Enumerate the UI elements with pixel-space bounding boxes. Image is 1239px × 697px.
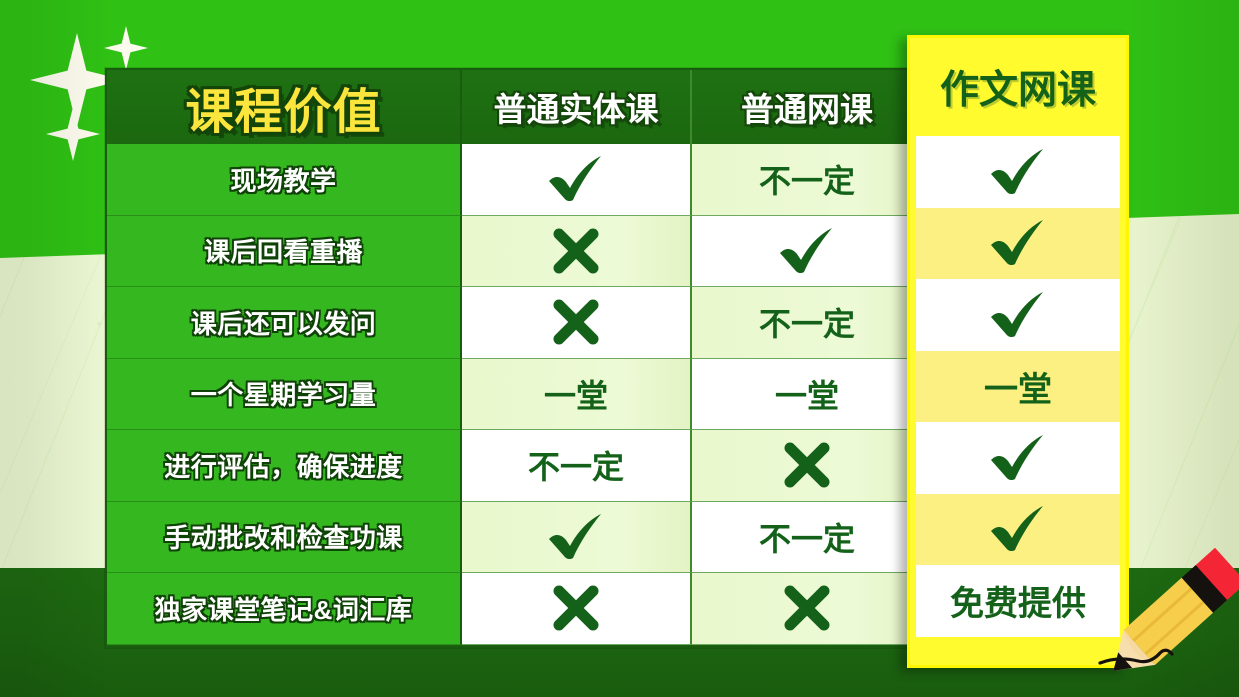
cross-icon [550, 582, 602, 634]
comparison-table: 课程价值 普通实体课 普通网课 现场教学不一定课后回看重播课后还可以发问不一定一… [105, 68, 925, 648]
row-label: 手动批改和检查功课 [164, 518, 403, 555]
highlight-cell: 免费提供 [916, 565, 1120, 637]
pencil-icon [1098, 545, 1239, 697]
cell-online: 一堂 [692, 359, 922, 431]
cell-online: 不一定 [692, 287, 922, 359]
column-header-online-label: 普通网课 [741, 83, 873, 131]
column-header-online: 普通网课 [692, 70, 922, 144]
column-header-offline-label: 普通实体课 [494, 83, 659, 131]
cell-text: 不一定 [759, 299, 855, 345]
highlight-cell [916, 208, 1120, 280]
cell-offline [462, 216, 692, 288]
row-label-cell: 课后回看重播 [107, 216, 462, 288]
check-icon [987, 147, 1049, 197]
cross-icon [781, 439, 833, 491]
cell-text: 不一定 [528, 442, 624, 488]
table-row: 独家课堂笔记&词汇库 [107, 573, 923, 645]
table-row: 课后还可以发问不一定 [107, 287, 923, 359]
row-label-cell: 独家课堂笔记&词汇库 [107, 573, 462, 645]
row-label-cell: 现场教学 [107, 144, 462, 216]
cell-online: 不一定 [692, 502, 922, 574]
highlight-cell: 一堂 [916, 351, 1120, 423]
row-label-cell: 进行评估，确保进度 [107, 430, 462, 502]
row-label: 一个星期学习量 [191, 375, 377, 412]
cell-text: 免费提供 [950, 576, 1086, 625]
row-label-cell: 一个星期学习量 [107, 359, 462, 431]
table-header-row: 课程价值 普通实体课 普通网课 [107, 70, 923, 144]
highlight-cell [916, 494, 1120, 566]
table-row: 现场教学不一定 [107, 144, 923, 216]
cell-offline [462, 144, 692, 216]
cell-offline [462, 502, 692, 574]
check-icon [987, 504, 1049, 554]
check-icon [545, 512, 607, 562]
check-icon [987, 290, 1049, 340]
row-label: 进行评估，确保进度 [164, 447, 403, 484]
highlight-column-title: 作文网课 [940, 59, 1096, 115]
row-label: 课后回看重播 [204, 232, 363, 269]
table-row: 手动批改和检查功课不一定 [107, 502, 923, 574]
cell-text: 一堂 [775, 371, 839, 417]
cross-icon [550, 225, 602, 277]
cell-text: 不一定 [759, 156, 855, 202]
check-icon [545, 154, 607, 204]
highlight-column-body: 一堂免费提供 [910, 136, 1126, 643]
cross-icon [550, 296, 602, 348]
cell-online [692, 216, 922, 288]
highlight-cell [916, 279, 1120, 351]
table-title-cell: 课程价值 [107, 70, 462, 144]
cell-online [692, 573, 922, 645]
row-label-cell: 手动批改和检查功课 [107, 502, 462, 574]
page-title: 课程价值 [185, 72, 381, 142]
row-label: 现场教学 [230, 161, 336, 198]
row-label-cell: 课后还可以发问 [107, 287, 462, 359]
column-header-offline: 普通实体课 [462, 70, 692, 144]
row-label: 独家课堂笔记&词汇库 [155, 590, 413, 627]
cell-text: 一堂 [544, 371, 608, 417]
cell-offline: 一堂 [462, 359, 692, 431]
highlight-cell [916, 136, 1120, 208]
check-icon [987, 433, 1049, 483]
highlight-column[interactable]: 作文网课 一堂免费提供 [907, 35, 1129, 668]
check-icon [776, 226, 838, 276]
cell-text: 不一定 [759, 514, 855, 560]
highlight-cell [916, 422, 1120, 494]
cell-online: 不一定 [692, 144, 922, 216]
cell-offline [462, 287, 692, 359]
table-body: 现场教学不一定课后回看重播课后还可以发问不一定一个星期学习量一堂一堂进行评估，确… [107, 144, 923, 645]
table-row: 一个星期学习量一堂一堂 [107, 359, 923, 431]
cell-offline [462, 573, 692, 645]
row-label: 课后还可以发问 [191, 304, 377, 341]
highlight-column-header: 作文网课 [910, 38, 1126, 136]
check-icon [987, 218, 1049, 268]
cross-icon [781, 582, 833, 634]
cell-text: 一堂 [984, 362, 1052, 411]
table-row: 课后回看重播 [107, 216, 923, 288]
table-row: 进行评估，确保进度不一定 [107, 430, 923, 502]
cell-online [692, 430, 922, 502]
cell-offline: 不一定 [462, 430, 692, 502]
